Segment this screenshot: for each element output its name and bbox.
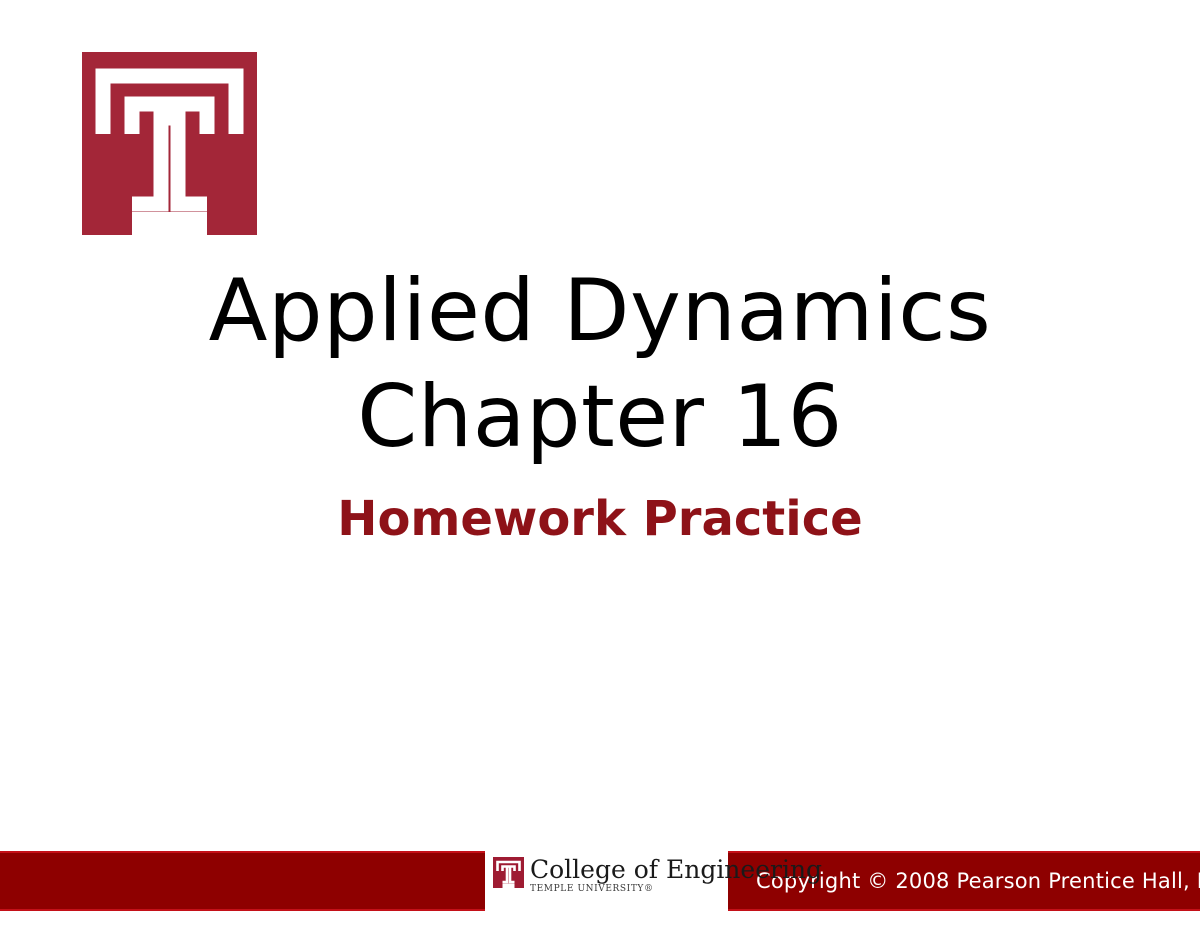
page-subtitle: Homework Practice: [180, 489, 1020, 549]
temple-t-logo: [82, 52, 257, 235]
college-of-engineering-subtitle: TEMPLE UNIVERSITY®: [530, 884, 822, 895]
college-of-engineering-title: College of Engineering: [530, 857, 822, 882]
temple-t-mark-icon: [493, 857, 524, 888]
temple-logo-base-notch: [132, 212, 207, 235]
college-of-engineering-logo-panel: College of Engineering TEMPLE UNIVERSITY…: [485, 848, 728, 927]
page-title: Applied Dynamics Chapter 16: [180, 258, 1020, 470]
college-of-engineering-lockup: College of Engineering TEMPLE UNIVERSITY…: [493, 857, 822, 895]
title-line-1: Applied Dynamics: [180, 258, 1020, 364]
title-line-2: Chapter 16: [180, 364, 1020, 470]
copyright-text: Copyright © 2008 Pearson Prentice Hall, …: [756, 866, 1200, 896]
college-of-engineering-text: College of Engineering TEMPLE UNIVERSITY…: [530, 857, 822, 895]
